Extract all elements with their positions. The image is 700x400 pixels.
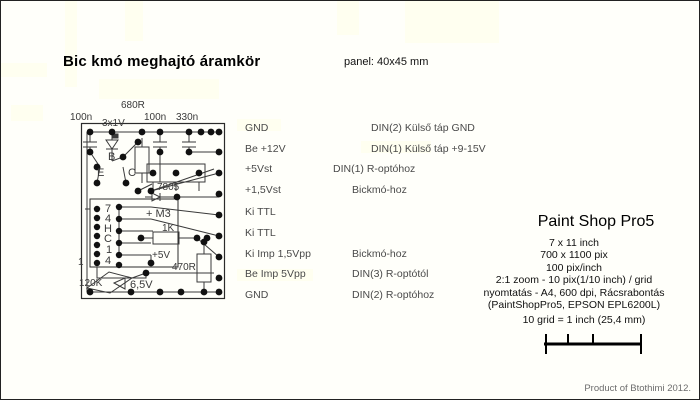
credit-text: Product of Btothimi 2012. — [584, 383, 691, 394]
scale-ruler — [1, 1, 700, 400]
schematic-canvas: Bic kmó meghajtó áramkör panel: 40x45 mm — [0, 0, 700, 400]
